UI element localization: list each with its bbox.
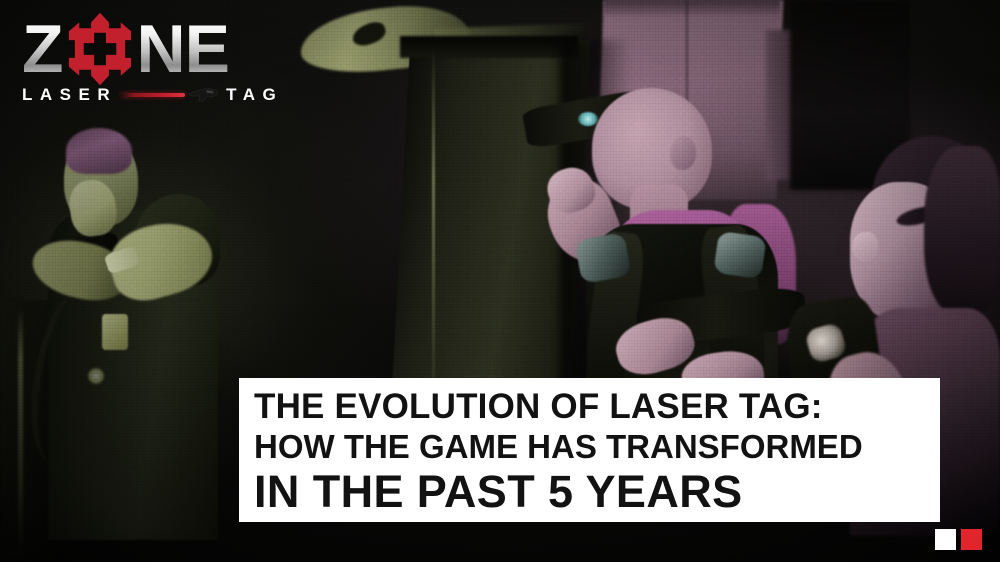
left-player-vest-light [88,368,104,384]
laser-beam-icon [121,93,185,97]
logo-tagline: LASER TAG [22,83,302,107]
title-line-1: THE EVOLUTION OF LASER TAG: [254,389,926,424]
center-barricade-top [400,36,578,58]
right-player-hair-front [924,146,1000,314]
center-player-shoulder-pad-right [713,231,766,279]
logo-letters-ne: NE [137,18,229,80]
banner-image: Z NE LASER TAG [0,0,1000,562]
logo-tagline-laser: LASER [22,85,117,105]
left-player-hair [66,128,132,174]
mauve-wall-top-edge [604,0,780,16]
right-player-nose [852,232,878,262]
center-player-ear [670,136,696,170]
left-player-vest-module [102,314,128,350]
article-title-box: THE EVOLUTION OF LASER TAG: HOW THE GAME… [239,378,940,522]
logo-letter-z: Z [22,18,63,80]
white-swatch [935,529,956,550]
title-line-2: HOW THE GAME HAS TRANSFORMED [254,430,926,463]
left-player [18,128,238,538]
crosshair-target-icon [63,12,137,86]
logo-wordmark: Z NE [22,16,302,82]
laser-blaster-icon [187,86,219,104]
title-line-3: IN THE PAST 5 YEARS [254,469,926,514]
zone-laser-tag-logo[interactable]: Z NE LASER TAG [22,16,302,116]
logo-tagline-tag: TAG [226,85,283,105]
center-player-blaster-sensor [578,112,598,126]
red-swatch [961,529,982,550]
brand-color-swatches [935,529,982,550]
